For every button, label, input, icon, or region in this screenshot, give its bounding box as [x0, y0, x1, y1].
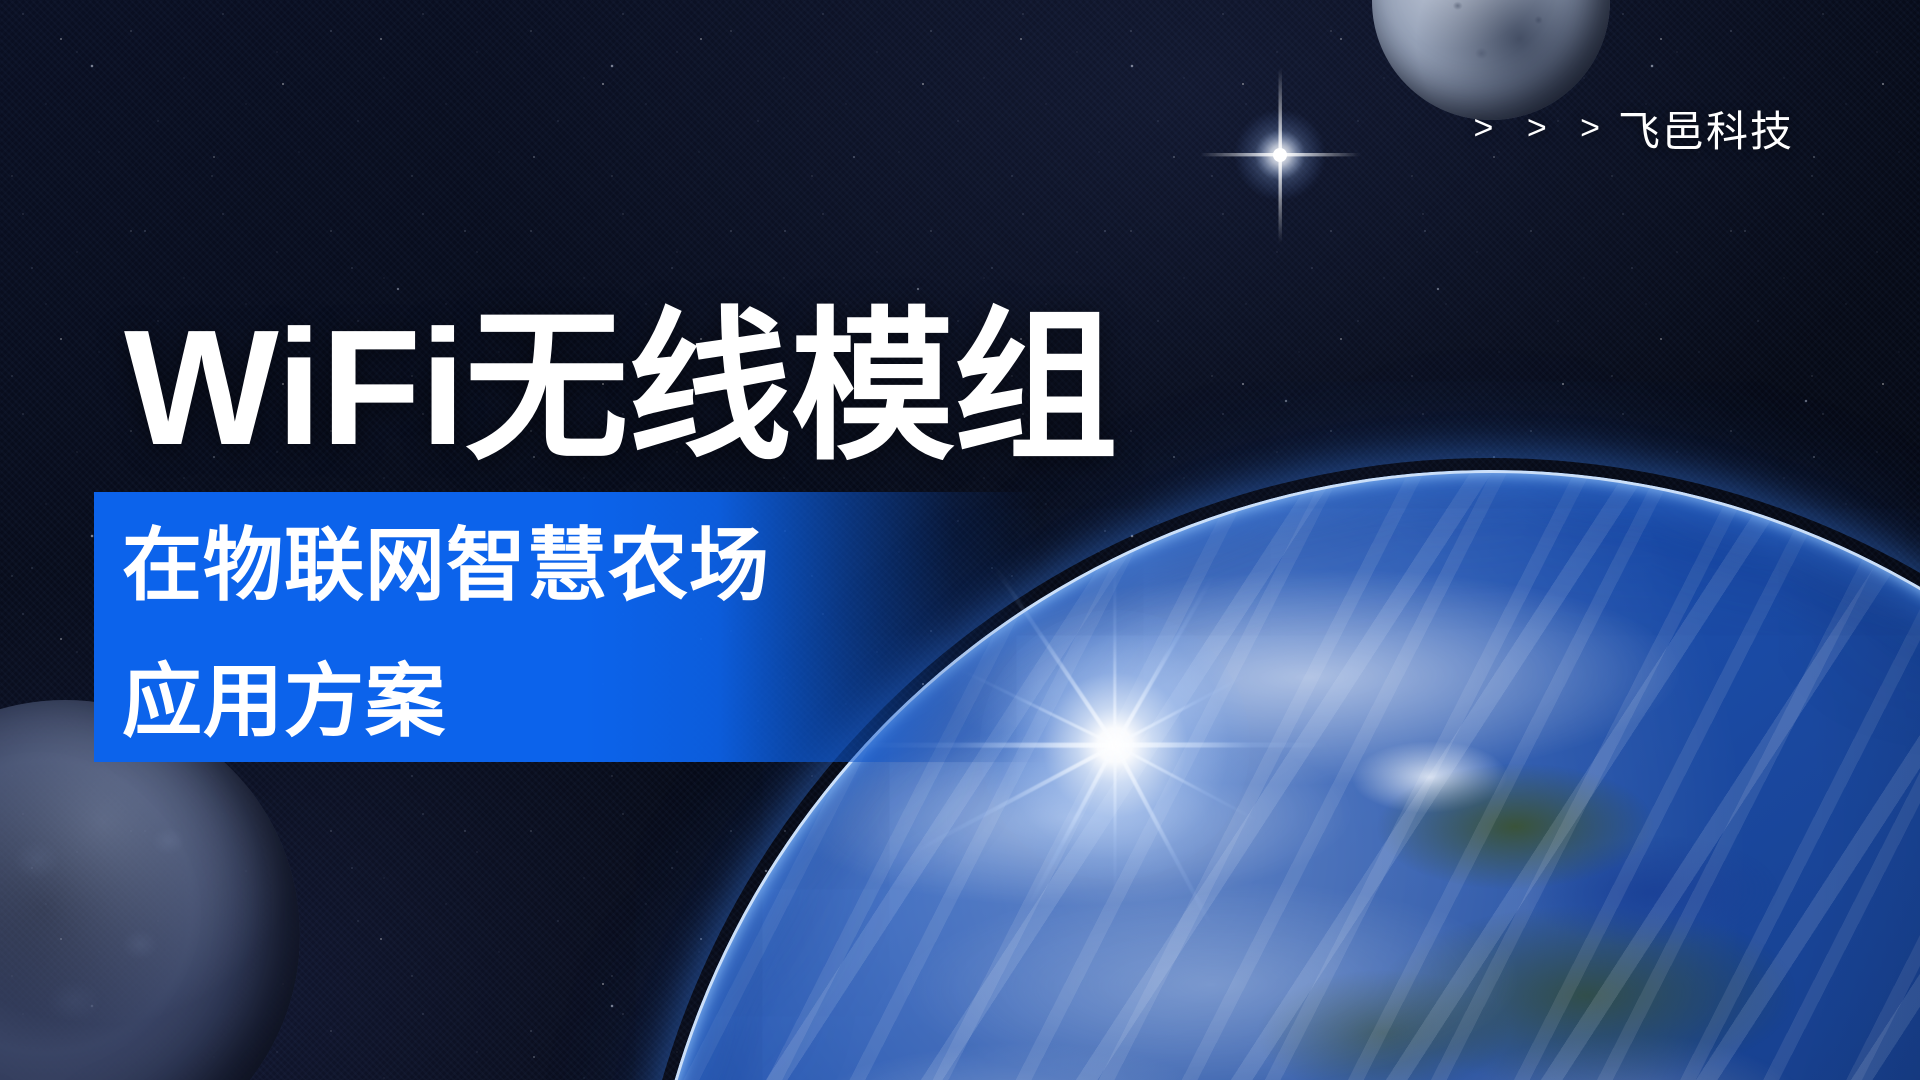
page-title: WiFi无线模组 — [124, 306, 1117, 470]
subtitle-line-1: 在物联网智慧农场 — [122, 498, 1022, 634]
slide-canvas: > > > 飞邑科技 WiFi无线模组 在物联网智慧农场 应用方案 — [0, 0, 1920, 1080]
four-point-star-icon — [1195, 70, 1365, 240]
flare-ray — [1114, 745, 1117, 895]
brand-logo: > > > 飞邑科技 — [1474, 98, 1794, 159]
subtitle-line-2: 应用方案 — [122, 634, 1022, 770]
brand-name: 飞邑科技 — [1618, 98, 1794, 159]
flare-ray — [1113, 570, 1116, 745]
subtitle-text-group: 在物联网智慧农场 应用方案 — [122, 498, 1022, 770]
chevrons-icon: > > > — [1474, 109, 1612, 148]
flare-ray — [1115, 743, 1330, 748]
